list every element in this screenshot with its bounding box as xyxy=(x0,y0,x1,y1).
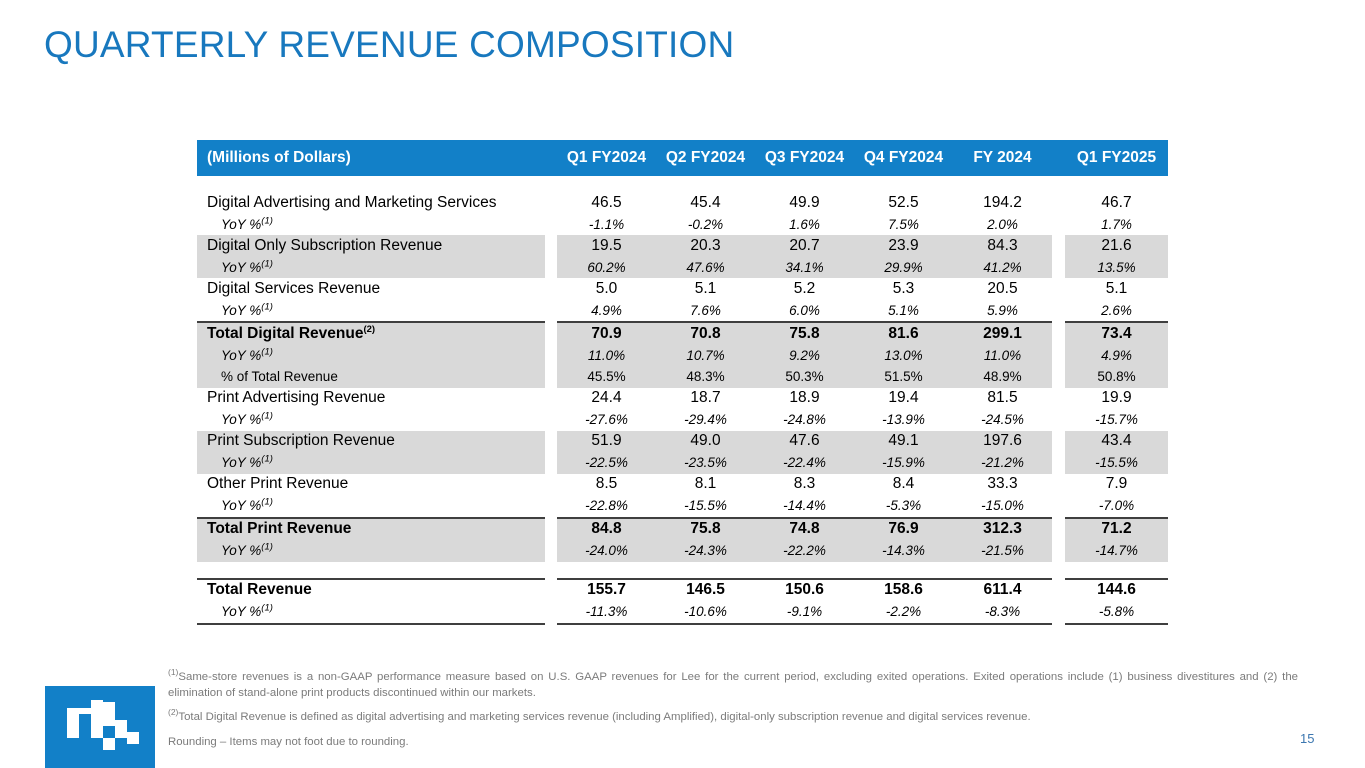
footnote-3: Rounding – Items may not foot due to rou… xyxy=(168,735,1298,751)
cell-value: 84.3 xyxy=(953,235,1052,257)
table-row: Print Advertising Revenue 24.4 18.7 18.9… xyxy=(197,388,1168,410)
row-label-text: YoY % xyxy=(221,455,261,470)
cell-gap xyxy=(545,192,557,214)
row-label-text: YoY % xyxy=(221,498,261,513)
column-header-q1-fy2025: Q1 FY2025 xyxy=(1065,140,1168,176)
row-label: YoY %(1) xyxy=(197,540,545,562)
cell-value: -0.2% xyxy=(656,214,755,236)
page-title: QUARTERLY REVENUE COMPOSITION xyxy=(44,24,734,66)
row-label: YoY %(1) xyxy=(197,409,545,431)
quarterly-revenue-table: (Millions of Dollars) Q1 FY2024 Q2 FY202… xyxy=(197,140,1162,625)
cell-value: -1.1% xyxy=(557,214,656,236)
cell-gap xyxy=(545,518,557,541)
header-gap xyxy=(545,140,557,176)
row-label-text: YoY % xyxy=(221,217,261,232)
row-label: YoY %(1) xyxy=(197,601,545,624)
cell-value: 47.6% xyxy=(656,257,755,279)
cell-value: -23.5% xyxy=(656,452,755,474)
cell-value: 43.4 xyxy=(1065,431,1168,453)
footnote-marker: (1) xyxy=(261,301,273,312)
cell-value: -8.3% xyxy=(953,601,1052,624)
table-row: YoY %(1) -22.8% -15.5% -14.4% -5.3% -15.… xyxy=(197,495,1168,518)
cell-gap xyxy=(1052,540,1065,562)
column-header-q1-fy2024: Q1 FY2024 xyxy=(557,140,656,176)
cell-gap xyxy=(545,366,557,388)
cell-value: 144.6 xyxy=(1065,579,1168,602)
table-body: Digital Advertising and Marketing Servic… xyxy=(197,176,1168,624)
cell-value: -15.5% xyxy=(1065,452,1168,474)
cell-value: 60.2% xyxy=(557,257,656,279)
row-label: YoY %(1) xyxy=(197,300,545,323)
cell-gap xyxy=(545,579,557,602)
cell-value: -13.9% xyxy=(854,409,953,431)
footnote-marker: (1) xyxy=(261,215,273,226)
cell-gap xyxy=(545,345,557,367)
footnote-marker-2: (2) xyxy=(168,707,178,717)
cell-gap xyxy=(545,214,557,236)
table-row: Digital Only Subscription Revenue 19.5 2… xyxy=(197,235,1168,257)
row-label: YoY %(1) xyxy=(197,345,545,367)
cell-value: -24.3% xyxy=(656,540,755,562)
row-label: YoY %(1) xyxy=(197,257,545,279)
cell-gap xyxy=(1052,452,1065,474)
cell-value: 51.5% xyxy=(854,366,953,388)
cell-value: -10.6% xyxy=(656,601,755,624)
cell-value: 47.6 xyxy=(755,431,854,453)
table-row-total-print: Total Print Revenue 84.8 75.8 74.8 76.9 … xyxy=(197,518,1168,541)
cell-value: 20.3 xyxy=(656,235,755,257)
cell-value: 70.9 xyxy=(557,322,656,345)
footnote-2: (2)Total Digital Revenue is defined as d… xyxy=(168,710,1298,726)
row-label: Other Print Revenue xyxy=(197,474,545,496)
cell-value: -2.2% xyxy=(854,601,953,624)
row-label-text: YoY % xyxy=(221,303,261,318)
cell-value: -22.5% xyxy=(557,452,656,474)
cell-value: -22.8% xyxy=(557,495,656,518)
cell-value: -22.2% xyxy=(755,540,854,562)
cell-value: 2.6% xyxy=(1065,300,1168,323)
cell-value: 46.5 xyxy=(557,192,656,214)
spacer-row xyxy=(197,176,1168,192)
cell-gap xyxy=(545,235,557,257)
table-header: (Millions of Dollars) Q1 FY2024 Q2 FY202… xyxy=(197,140,1168,176)
cell-value: 45.5% xyxy=(557,366,656,388)
cell-value: 81.5 xyxy=(953,388,1052,410)
row-label: YoY %(1) xyxy=(197,452,545,474)
cell-gap xyxy=(1052,235,1065,257)
column-header-q3-fy2024: Q3 FY2024 xyxy=(755,140,854,176)
cell-value: 8.4 xyxy=(854,474,953,496)
table-header-row: (Millions of Dollars) Q1 FY2024 Q2 FY202… xyxy=(197,140,1168,176)
table-row: Other Print Revenue 8.5 8.1 8.3 8.4 33.3… xyxy=(197,474,1168,496)
cell-value: 4.9% xyxy=(1065,345,1168,367)
table-row: YoY %(1) -11.3% -10.6% -9.1% -2.2% -8.3%… xyxy=(197,601,1168,624)
footnote-2-text: Total Digital Revenue is defined as digi… xyxy=(178,711,1030,723)
spacer-cell xyxy=(197,176,1168,192)
cell-value: -14.7% xyxy=(1065,540,1168,562)
cell-value: -15.7% xyxy=(1065,409,1168,431)
cell-value: 50.3% xyxy=(755,366,854,388)
cell-gap xyxy=(545,257,557,279)
cell-value: 48.9% xyxy=(953,366,1052,388)
cell-value: 194.2 xyxy=(953,192,1052,214)
cell-gap xyxy=(1052,518,1065,541)
cell-gap xyxy=(545,322,557,345)
cell-value: -24.5% xyxy=(953,409,1052,431)
row-label: Print Advertising Revenue xyxy=(197,388,545,410)
cell-value: 155.7 xyxy=(557,579,656,602)
cell-value: 20.5 xyxy=(953,278,1052,300)
cell-value: 23.9 xyxy=(854,235,953,257)
table-row: YoY %(1) 4.9% 7.6% 6.0% 5.1% 5.9% 2.6% xyxy=(197,300,1168,323)
financial-table: (Millions of Dollars) Q1 FY2024 Q2 FY202… xyxy=(197,140,1168,625)
cell-value: -15.5% xyxy=(656,495,755,518)
cell-value: -27.6% xyxy=(557,409,656,431)
cell-value: 52.5 xyxy=(854,192,953,214)
cell-value: 5.3 xyxy=(854,278,953,300)
table-row: YoY %(1) -22.5% -23.5% -22.4% -15.9% -21… xyxy=(197,452,1168,474)
cell-value: 33.3 xyxy=(953,474,1052,496)
footnote-marker-1: (1) xyxy=(168,667,178,677)
cell-gap xyxy=(1052,366,1065,388)
row-label: YoY %(1) xyxy=(197,214,545,236)
cell-value: 5.1 xyxy=(656,278,755,300)
cell-value: 19.5 xyxy=(557,235,656,257)
cell-value: 11.0% xyxy=(953,345,1052,367)
footnote-marker: (1) xyxy=(261,411,273,422)
lee-logo-icon xyxy=(45,686,155,768)
cell-value: -29.4% xyxy=(656,409,755,431)
cell-value: 84.8 xyxy=(557,518,656,541)
column-header-units: (Millions of Dollars) xyxy=(197,140,545,176)
table-row: YoY %(1) 11.0% 10.7% 9.2% 13.0% 11.0% 4.… xyxy=(197,345,1168,367)
row-label: Digital Services Revenue xyxy=(197,278,545,300)
cell-gap xyxy=(1052,579,1065,602)
cell-value: -5.3% xyxy=(854,495,953,518)
cell-value: 8.1 xyxy=(656,474,755,496)
cell-value: 49.9 xyxy=(755,192,854,214)
cell-value: -15.0% xyxy=(953,495,1052,518)
cell-gap xyxy=(1052,214,1065,236)
cell-gap xyxy=(545,431,557,453)
footnote-marker: (1) xyxy=(261,497,273,508)
cell-value: 13.5% xyxy=(1065,257,1168,279)
cell-value: 5.1% xyxy=(854,300,953,323)
table-row: YoY %(1) -24.0% -24.3% -22.2% -14.3% -21… xyxy=(197,540,1168,562)
cell-value: 45.4 xyxy=(656,192,755,214)
cell-value: 11.0% xyxy=(557,345,656,367)
cell-gap xyxy=(1052,345,1065,367)
row-label-text: YoY % xyxy=(221,604,261,619)
cell-value: -24.8% xyxy=(755,409,854,431)
cell-value: 5.1 xyxy=(1065,278,1168,300)
cell-value: 10.7% xyxy=(656,345,755,367)
cell-value: 74.8 xyxy=(755,518,854,541)
cell-gap xyxy=(1052,300,1065,323)
row-label: Print Subscription Revenue xyxy=(197,431,545,453)
cell-value: 41.2% xyxy=(953,257,1052,279)
cell-value: 19.9 xyxy=(1065,388,1168,410)
cell-value: 18.7 xyxy=(656,388,755,410)
cell-value: 49.1 xyxy=(854,431,953,453)
table-row-total-revenue: Total Revenue 155.7 146.5 150.6 158.6 61… xyxy=(197,579,1168,602)
row-label: Total Revenue xyxy=(197,579,545,602)
cell-gap xyxy=(1052,474,1065,496)
footnote-marker: (1) xyxy=(261,454,273,465)
cell-value: 5.2 xyxy=(755,278,854,300)
row-label: Digital Only Subscription Revenue xyxy=(197,235,545,257)
row-label: Total Digital Revenue(2) xyxy=(197,322,545,345)
cell-gap xyxy=(1052,601,1065,624)
footnote-marker: (1) xyxy=(261,346,273,357)
cell-gap xyxy=(1052,322,1065,345)
footnote-1-text: Same-store revenues is a non-GAAP perfor… xyxy=(168,671,1298,699)
cell-value: 20.7 xyxy=(755,235,854,257)
footnote-marker: (1) xyxy=(261,603,273,614)
cell-gap xyxy=(1052,257,1065,279)
row-label-text: YoY % xyxy=(221,260,261,275)
cell-gap xyxy=(545,452,557,474)
cell-value: 24.4 xyxy=(557,388,656,410)
cell-value: 312.3 xyxy=(953,518,1052,541)
cell-gap xyxy=(1052,409,1065,431)
cell-value: -5.8% xyxy=(1065,601,1168,624)
cell-value: 1.6% xyxy=(755,214,854,236)
footnote-marker: (2) xyxy=(363,324,375,335)
table-row: Digital Services Revenue 5.0 5.1 5.2 5.3… xyxy=(197,278,1168,300)
row-label-text: YoY % xyxy=(221,412,261,427)
cell-value: 70.8 xyxy=(656,322,755,345)
cell-gap xyxy=(545,409,557,431)
cell-value: 146.5 xyxy=(656,579,755,602)
footnotes: (1)Same-store revenues is a non-GAAP per… xyxy=(168,670,1298,759)
cell-value: 21.6 xyxy=(1065,235,1168,257)
column-header-q2-fy2024: Q2 FY2024 xyxy=(656,140,755,176)
column-header-q4-fy2024: Q4 FY2024 xyxy=(854,140,953,176)
spacer-cell xyxy=(197,562,1168,579)
cell-value: 2.0% xyxy=(953,214,1052,236)
cell-value: 8.5 xyxy=(557,474,656,496)
cell-value: 76.9 xyxy=(854,518,953,541)
row-label: Total Print Revenue xyxy=(197,518,545,541)
cell-value: 46.7 xyxy=(1065,192,1168,214)
cell-value: 150.6 xyxy=(755,579,854,602)
cell-value: 34.1% xyxy=(755,257,854,279)
cell-value: 50.8% xyxy=(1065,366,1168,388)
cell-value: 5.0 xyxy=(557,278,656,300)
cell-gap xyxy=(1052,431,1065,453)
cell-value: 158.6 xyxy=(854,579,953,602)
column-header-fy2024: FY 2024 xyxy=(953,140,1052,176)
cell-value: 75.8 xyxy=(755,322,854,345)
cell-value: 13.0% xyxy=(854,345,953,367)
cell-value: -22.4% xyxy=(755,452,854,474)
table-row: YoY %(1) -27.6% -29.4% -24.8% -13.9% -24… xyxy=(197,409,1168,431)
cell-value: -21.2% xyxy=(953,452,1052,474)
row-label: YoY %(1) xyxy=(197,495,545,518)
cell-value: 29.9% xyxy=(854,257,953,279)
row-label: % of Total Revenue xyxy=(197,366,545,388)
cell-value: -24.0% xyxy=(557,540,656,562)
cell-value: -15.9% xyxy=(854,452,953,474)
table-row: YoY %(1) 60.2% 47.6% 34.1% 29.9% 41.2% 1… xyxy=(197,257,1168,279)
cell-value: 71.2 xyxy=(1065,518,1168,541)
row-label-text: Total Digital Revenue xyxy=(207,325,363,342)
cell-value: 48.3% xyxy=(656,366,755,388)
cell-value: -11.3% xyxy=(557,601,656,624)
table-row: YoY %(1) -1.1% -0.2% 1.6% 7.5% 2.0% 1.7% xyxy=(197,214,1168,236)
cell-value: 611.4 xyxy=(953,579,1052,602)
table-row-total-digital: Total Digital Revenue(2) 70.9 70.8 75.8 … xyxy=(197,322,1168,345)
cell-value: -14.3% xyxy=(854,540,953,562)
cell-gap xyxy=(545,278,557,300)
cell-gap xyxy=(1052,278,1065,300)
cell-value: -14.4% xyxy=(755,495,854,518)
footnote-1: (1)Same-store revenues is a non-GAAP per… xyxy=(168,670,1298,701)
cell-value: 9.2% xyxy=(755,345,854,367)
cell-value: 4.9% xyxy=(557,300,656,323)
cell-gap xyxy=(545,300,557,323)
page-number: 15 xyxy=(1300,731,1314,746)
cell-value: 73.4 xyxy=(1065,322,1168,345)
header-gap xyxy=(1052,140,1065,176)
cell-value: 49.0 xyxy=(656,431,755,453)
cell-gap xyxy=(1052,495,1065,518)
footnote-marker: (1) xyxy=(261,258,273,269)
cell-value: -9.1% xyxy=(755,601,854,624)
cell-gap xyxy=(545,495,557,518)
cell-value: 1.7% xyxy=(1065,214,1168,236)
cell-gap xyxy=(1052,192,1065,214)
cell-value: 5.9% xyxy=(953,300,1052,323)
cell-gap xyxy=(545,540,557,562)
table-row: % of Total Revenue 45.5% 48.3% 50.3% 51.… xyxy=(197,366,1168,388)
cell-gap xyxy=(545,388,557,410)
company-logo xyxy=(45,686,155,768)
cell-value: 7.5% xyxy=(854,214,953,236)
cell-value: 81.6 xyxy=(854,322,953,345)
row-label-text: YoY % xyxy=(221,543,261,558)
footnote-marker: (1) xyxy=(261,542,273,553)
row-label-text: YoY % xyxy=(221,348,261,363)
cell-value: 19.4 xyxy=(854,388,953,410)
cell-gap xyxy=(545,601,557,624)
cell-value: 6.0% xyxy=(755,300,854,323)
table-row: Print Subscription Revenue 51.9 49.0 47.… xyxy=(197,431,1168,453)
cell-value: 299.1 xyxy=(953,322,1052,345)
cell-value: 8.3 xyxy=(755,474,854,496)
cell-gap xyxy=(1052,388,1065,410)
cell-gap xyxy=(545,474,557,496)
cell-value: 197.6 xyxy=(953,431,1052,453)
cell-value: -21.5% xyxy=(953,540,1052,562)
cell-value: -7.0% xyxy=(1065,495,1168,518)
cell-value: 51.9 xyxy=(557,431,656,453)
spacer-row xyxy=(197,562,1168,579)
table-row: Digital Advertising and Marketing Servic… xyxy=(197,192,1168,214)
row-label: Digital Advertising and Marketing Servic… xyxy=(197,192,545,214)
cell-value: 7.9 xyxy=(1065,474,1168,496)
cell-value: 18.9 xyxy=(755,388,854,410)
cell-value: 75.8 xyxy=(656,518,755,541)
cell-value: 7.6% xyxy=(656,300,755,323)
